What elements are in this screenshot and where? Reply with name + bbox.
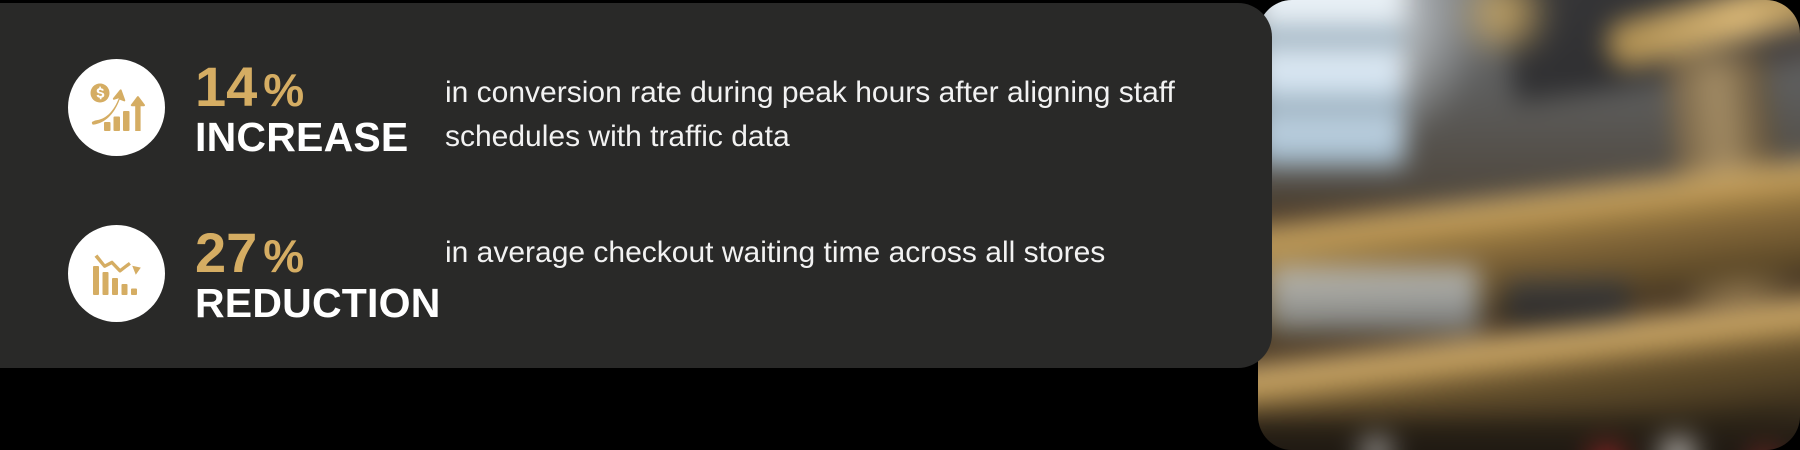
stat-icon-badge	[68, 225, 165, 322]
stat-label: REDUCTION	[195, 281, 445, 327]
stat-value: 27%	[195, 225, 445, 281]
stat-figure-block: 27% REDUCTION	[195, 225, 445, 327]
stat-banner: 14% INCREASE in conversion rate during p…	[0, 0, 1800, 450]
mall-photo	[1258, 0, 1800, 450]
money-growth-chart-icon	[88, 82, 146, 134]
stat-number: 27	[195, 221, 257, 284]
stat-value: 14%	[195, 59, 445, 115]
stat-description: in conversion rate during peak hours aft…	[445, 59, 1190, 159]
declining-bar-chart-icon	[91, 250, 143, 298]
stat-label: INCREASE	[195, 115, 445, 161]
mall-photo-image	[1258, 0, 1800, 450]
stat-item-reduction: 27% REDUCTION in average checkout waitin…	[68, 225, 1190, 327]
stats-list: 14% INCREASE in conversion rate during p…	[0, 3, 1272, 51]
stat-item-increase: 14% INCREASE in conversion rate during p…	[68, 59, 1190, 161]
stat-icon-badge	[68, 59, 165, 156]
stat-description: in average checkout waiting time across …	[445, 225, 1190, 275]
stat-percent-sign: %	[263, 64, 304, 116]
stats-card: 14% INCREASE in conversion rate during p…	[0, 3, 1272, 368]
stat-figure-block: 14% INCREASE	[195, 59, 445, 161]
stat-number: 14	[195, 55, 257, 118]
stat-percent-sign: %	[263, 230, 304, 282]
